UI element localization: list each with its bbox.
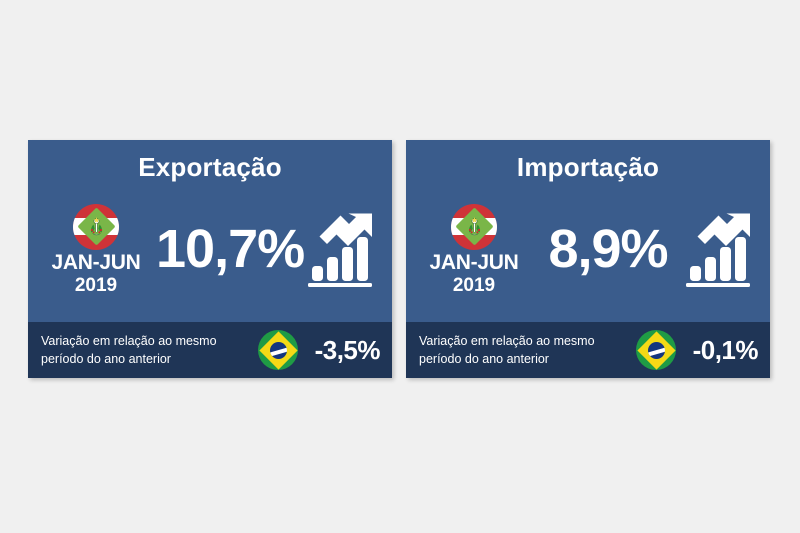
- variation-value-importacao: -0,1%: [682, 335, 758, 366]
- stat-card-exportacao: Exportação: [28, 140, 392, 378]
- footer-note-importacao: Variação em relação ao mesmo período do …: [419, 332, 636, 368]
- period-block-importacao: JAN-JUN 2019: [414, 204, 534, 298]
- growth-bar-chart-up-icon: [682, 209, 754, 289]
- primary-value-importacao: 8,9%: [534, 222, 682, 276]
- period-label-importacao: JAN-JUN: [430, 252, 519, 275]
- period-label-exportacao: JAN-JUN: [52, 252, 141, 275]
- period-block-exportacao: JAN-JUN 2019: [36, 204, 156, 298]
- panel-body-importacao: JAN-JUN 2019 8,9%: [406, 182, 770, 322]
- panel-title-exportacao: Exportação: [28, 153, 392, 182]
- santa-catarina-flag-icon: [451, 204, 497, 250]
- coat-of-arms-icon: [465, 216, 484, 237]
- coat-of-arms-icon: [87, 216, 106, 237]
- period-year-exportacao: 2019: [75, 274, 117, 298]
- growth-bar-chart-up-icon: [304, 209, 376, 289]
- panel-title-importacao: Importação: [406, 153, 770, 182]
- panel-footer-exportacao: Variação em relação ao mesmo período do …: [28, 322, 392, 378]
- footer-note-exportacao: Variação em relação ao mesmo período do …: [41, 332, 258, 368]
- panel-footer-importacao: Variação em relação ao mesmo período do …: [406, 322, 770, 378]
- infographic-board: Exportação: [0, 0, 800, 533]
- stat-card-importacao: Importação: [406, 140, 770, 378]
- variation-value-exportacao: -3,5%: [304, 335, 380, 366]
- primary-value-exportacao: 10,7%: [156, 222, 304, 276]
- brazil-flag-icon: [636, 330, 676, 370]
- period-year-importacao: 2019: [453, 274, 495, 298]
- brazil-flag-icon: [258, 330, 298, 370]
- santa-catarina-flag-icon: [73, 204, 119, 250]
- panel-body-exportacao: JAN-JUN 2019 10,7%: [28, 182, 392, 322]
